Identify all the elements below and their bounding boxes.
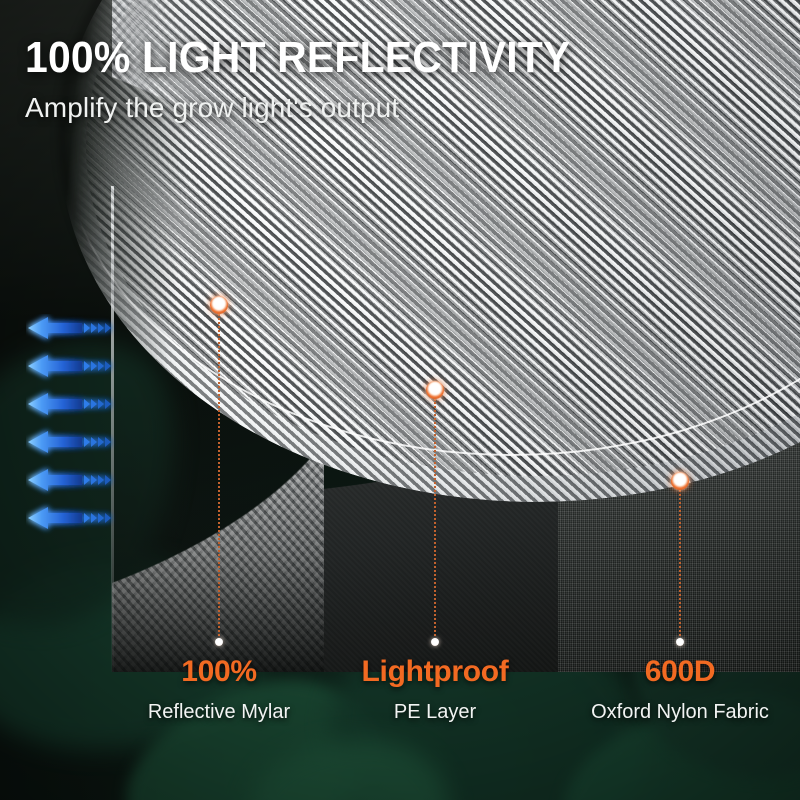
light-reflection-arrows [26, 314, 116, 542]
callout-line [434, 399, 436, 640]
product-infographic: 100% Reflective Mylar Lightproof PE Laye… [0, 0, 800, 800]
callout-title: 600D [645, 655, 716, 689]
arrows-svg [26, 314, 116, 542]
callout-marker-dot [426, 381, 444, 399]
callout-subtitle: PE Layer [394, 701, 476, 724]
page-title: 100% LIGHT REFLECTIVITY [25, 33, 570, 83]
callout-marker-dot [671, 472, 689, 490]
callout-end-dot [215, 638, 223, 646]
callout-line [218, 314, 220, 640]
callout-end-dot [676, 638, 684, 646]
callout-marker-dot [210, 296, 228, 314]
callout-title: Lightproof [362, 655, 509, 689]
callout-line [679, 490, 681, 640]
callout-end-dot [431, 638, 439, 646]
callout-subtitle: Oxford Nylon Fabric [591, 701, 769, 724]
callout-subtitle: Reflective Mylar [148, 701, 290, 724]
callout-title: 100% [181, 655, 257, 689]
page-subtitle: Amplify the grow light's output [25, 92, 399, 124]
light-reflection-arrow-icon [28, 317, 111, 529]
